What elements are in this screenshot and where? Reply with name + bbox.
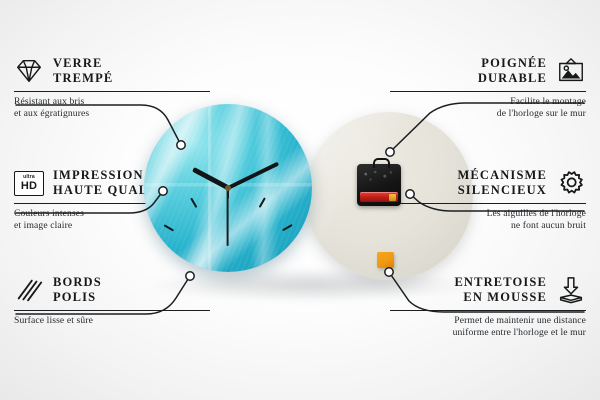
picture-frame-hanger-icon (556, 56, 586, 86)
clock-front-view (144, 104, 312, 272)
feature-title: VERRE TREMPÉ (53, 56, 113, 87)
feature-header: MÉCANISME SILENCIEUX (390, 168, 586, 199)
feature-description: Les aiguilles de l'horloge ne font aucun… (390, 208, 586, 234)
feature-mecanisme-silencieux: MÉCANISME SILENCIEUX Les aiguilles de l'… (390, 168, 586, 233)
feature-description: Facilite le montage de l'horloge sur le … (390, 96, 586, 122)
feature-divider (390, 203, 586, 204)
feature-title: POIGNÉE DURABLE (478, 56, 547, 87)
product-infographic: VERRE TREMPÉ Résistant aux bris et aux é… (0, 0, 600, 400)
diamond-icon (14, 56, 44, 86)
feature-divider (390, 310, 586, 311)
feature-bords-polis: BORDS POLIS Surface lisse et sûre (14, 275, 210, 327)
feature-divider (14, 91, 210, 92)
feature-header: BORDS POLIS (14, 275, 210, 306)
feature-divider (390, 91, 586, 92)
feature-title: MÉCANISME SILENCIEUX (457, 168, 547, 199)
feature-header: VERRE TREMPÉ (14, 56, 210, 87)
clock-center-cap (225, 185, 231, 191)
feature-entretoise-mousse: ENTRETOISE EN MOUSSE Permet de maintenir… (390, 275, 586, 340)
clock-second-hand (227, 188, 229, 246)
feature-poignee-durable: POIGNÉE DURABLE Facilite le montage de l… (390, 56, 586, 121)
arrow-down-foam-icon (556, 275, 586, 305)
mechanism-hanger (373, 158, 390, 168)
ultra-hd-icon-small-text: ultra (23, 175, 35, 180)
clock-mechanism (357, 164, 401, 206)
feature-header: ENTRETOISE EN MOUSSE (390, 275, 586, 306)
mechanism-detail (361, 169, 395, 186)
battery (360, 192, 398, 202)
feature-description: Permet de maintenir une distance uniform… (390, 315, 586, 341)
feature-title: ENTRETOISE EN MOUSSE (454, 275, 547, 306)
foam-spacer (377, 252, 394, 268)
feature-divider (14, 310, 210, 311)
ultra-hd-icon: ultra HD (14, 171, 44, 196)
feature-description: Surface lisse et sûre (14, 315, 210, 328)
clock-tick (154, 261, 165, 263)
feature-header: POIGNÉE DURABLE (390, 56, 586, 87)
ultra-hd-icon-large-text: HD (21, 181, 37, 192)
diagonal-lines-icon (14, 275, 44, 305)
gear-icon (556, 168, 586, 198)
feature-title: BORDS POLIS (53, 275, 102, 306)
